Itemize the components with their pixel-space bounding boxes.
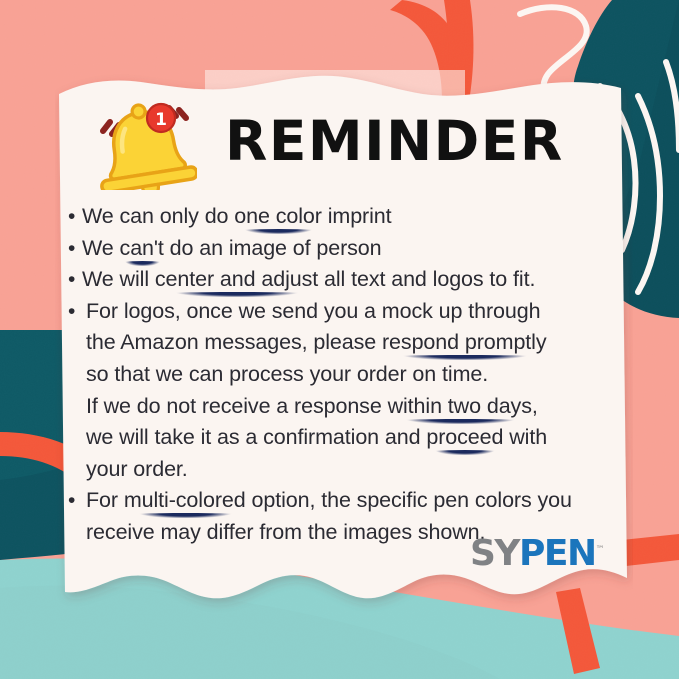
bullet-dot-icon: • bbox=[68, 264, 82, 296]
text-run: all text and logos to fit. bbox=[318, 267, 535, 291]
bullet-dot-icon: • bbox=[68, 201, 82, 233]
text-run: we will take it as a confirmation and bbox=[86, 425, 426, 449]
text-run: We will bbox=[82, 267, 155, 291]
list-item-continuation: we will take it as a confirmation and pr… bbox=[68, 422, 628, 454]
page-title: REMINDER bbox=[225, 106, 564, 176]
text-run: We can only do bbox=[82, 204, 234, 228]
text-run: We bbox=[82, 236, 120, 260]
bullet-dot-icon: • bbox=[68, 485, 86, 517]
bullet-dot-icon: • bbox=[68, 233, 82, 265]
logo-part-sy: SY bbox=[470, 533, 519, 574]
bullet-dot-icon: • bbox=[68, 296, 86, 328]
text-run: do an image of person bbox=[164, 236, 382, 260]
list-item: •We can't do an image of person bbox=[68, 233, 628, 265]
text-run: receive may differ from the images shown… bbox=[86, 520, 485, 544]
reminder-bullet-list: •We can only do one color imprint•We can… bbox=[68, 201, 628, 549]
list-item-continuation: your order. bbox=[68, 454, 628, 486]
list-item: •We will center and adjust all text and … bbox=[68, 264, 628, 296]
underlined-phrase: respond promptly bbox=[382, 327, 547, 359]
text-run: so that we can process your order on tim… bbox=[86, 362, 488, 386]
text-run: option, the specific pen colors you bbox=[246, 488, 572, 512]
text-run: For logos, once we send you a mock up th… bbox=[86, 299, 540, 323]
list-item: •For multi-colored option, the specific … bbox=[68, 485, 628, 517]
underlined-phrase: can't bbox=[120, 233, 164, 265]
text-run: with bbox=[503, 425, 547, 449]
bell-badge-count: 1 bbox=[155, 110, 167, 130]
list-item-continuation: so that we can process your order on tim… bbox=[68, 359, 628, 391]
underlined-phrase: proceed bbox=[426, 422, 503, 454]
text-run: For bbox=[86, 488, 124, 512]
sypen-logo: SYPEN™ bbox=[470, 529, 600, 571]
underlined-phrase: one color bbox=[234, 201, 322, 233]
list-item: •For logos, once we send you a mock up t… bbox=[68, 296, 628, 328]
text-run: your order. bbox=[86, 457, 188, 481]
reminder-card: 1 REMINDER •We can only do one color imp… bbox=[55, 58, 633, 623]
list-item-continuation: the Amazon messages, please respond prom… bbox=[68, 327, 628, 359]
text-run: , bbox=[532, 394, 538, 418]
card-header: 1 REMINDER bbox=[85, 98, 605, 190]
list-item-continuation: If we do not receive a response within t… bbox=[68, 391, 628, 423]
underlined-phrase: multi-colored bbox=[124, 485, 246, 517]
text-run: imprint bbox=[322, 204, 392, 228]
text-run: the Amazon messages, please bbox=[86, 330, 382, 354]
logo-part-pen: PEN bbox=[519, 533, 596, 574]
underlined-phrase: center and adjust bbox=[155, 264, 318, 296]
bell-notification-icon: 1 bbox=[93, 98, 197, 190]
text-run: If we do not receive a response bbox=[86, 394, 388, 418]
logo-trademark-icon: ™ bbox=[596, 545, 605, 555]
list-item: •We can only do one color imprint bbox=[68, 201, 628, 233]
underlined-phrase: within two days bbox=[388, 391, 532, 423]
reminder-graphic: 1 REMINDER •We can only do one color imp… bbox=[0, 0, 679, 679]
